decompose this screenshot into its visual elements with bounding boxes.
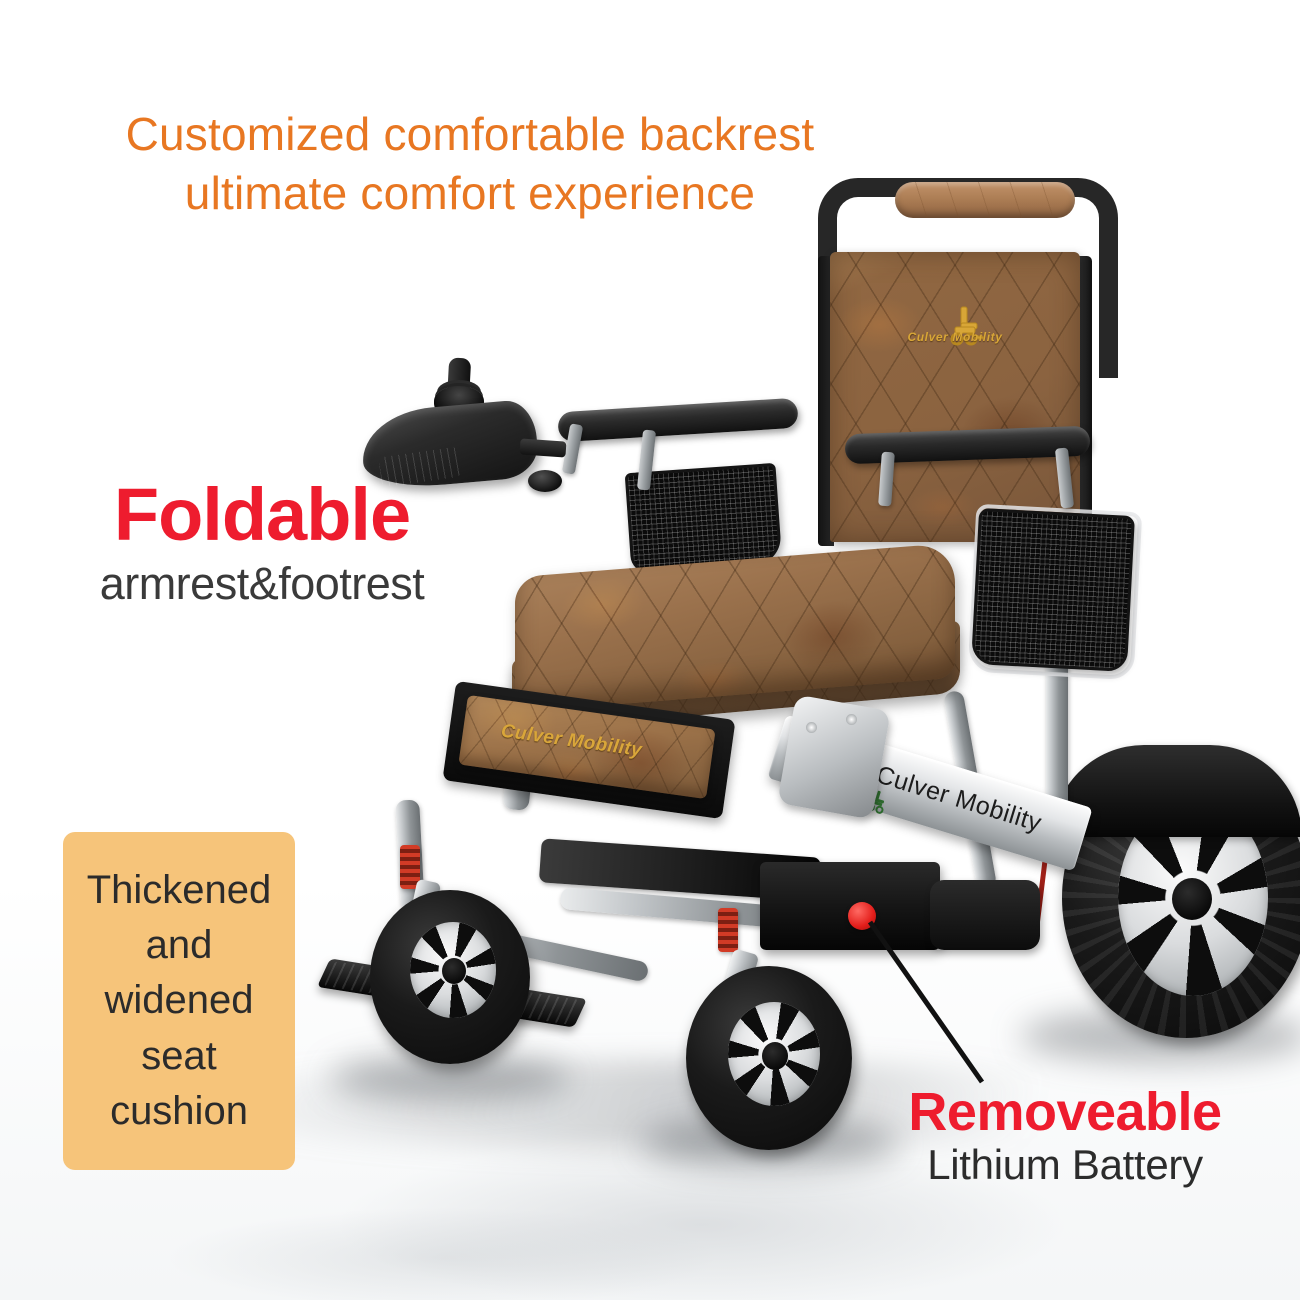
left-armrest bbox=[557, 398, 798, 443]
battery-release-indicator[interactable] bbox=[848, 902, 876, 930]
product-marketing-image: Culver Mobility bbox=[0, 0, 1300, 1300]
battery-title: Removeable bbox=[880, 1085, 1250, 1140]
joystick-adjust-knob[interactable] bbox=[528, 470, 562, 492]
removable-lithium-battery-box[interactable] bbox=[760, 862, 940, 950]
headline-callout: Customized comfortable backrest ultimate… bbox=[55, 105, 885, 223]
hinge-bolt-b bbox=[846, 714, 857, 725]
backrest-embroidery-text: Culver Mobility bbox=[900, 330, 1010, 344]
front-caster-hub bbox=[442, 958, 466, 984]
seat-cushion-callout-box: Thickened and widened seat cushion bbox=[63, 832, 295, 1170]
mid-caster-hub bbox=[762, 1042, 788, 1070]
hinge-bolt-a bbox=[806, 722, 817, 733]
foldable-callout: Foldable armrest&footrest bbox=[52, 478, 472, 610]
seat-cushion-callout-text: Thickened and widened seat cushion bbox=[63, 863, 295, 1139]
headline-line-2: ultimate comfort experience bbox=[185, 167, 755, 219]
rear-motor-housing bbox=[930, 880, 1040, 950]
foldable-title: Foldable bbox=[52, 478, 472, 552]
mid-suspension-spring bbox=[718, 908, 738, 952]
joystick-mount-arm bbox=[519, 438, 566, 457]
backrest-suede-texture bbox=[830, 252, 1080, 542]
backrest-cushion bbox=[830, 252, 1080, 542]
right-side-mesh-pocket bbox=[971, 508, 1135, 672]
battery-subtitle: Lithium Battery bbox=[880, 1142, 1250, 1188]
folding-hinge-plate bbox=[777, 695, 891, 820]
battery-callout: Removeable Lithium Battery bbox=[880, 1085, 1250, 1188]
foldable-subtitle: armrest&footrest bbox=[52, 558, 472, 610]
push-handle-grip bbox=[895, 182, 1075, 218]
headline-line-1: Customized comfortable backrest bbox=[126, 108, 815, 160]
rear-wheel-hub bbox=[1172, 878, 1212, 920]
backrest-embroidery: Culver Mobility bbox=[900, 300, 1010, 344]
